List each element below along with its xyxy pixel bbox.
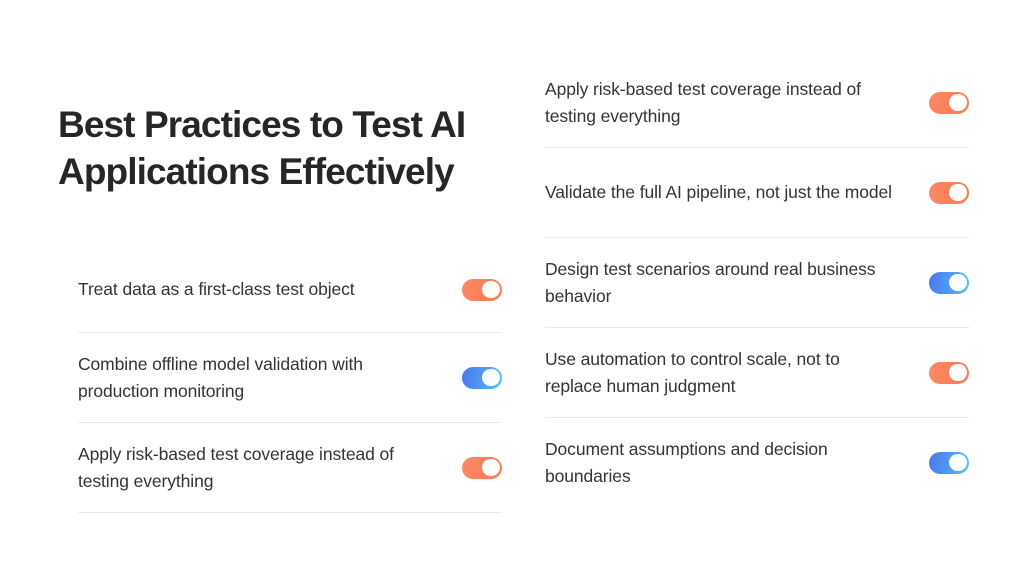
practice-label: Document assumptions and decision bounda… [545,436,907,490]
infographic-canvas: Best Practices to Test AI Applications E… [0,0,1024,580]
list-item[interactable]: Use automation to control scale, not to … [545,328,969,418]
left-practice-list: Treat data as a first-class test object … [78,247,502,513]
practice-label: Treat data as a first-class test object [78,276,365,303]
list-item[interactable]: Combine offline model validation with pr… [78,333,502,423]
page-title-line-2: Applications Effectively [58,148,508,195]
toggle-switch[interactable] [462,457,502,479]
practice-label: Design test scenarios around real busine… [545,256,907,310]
list-item[interactable]: Design test scenarios around real busine… [545,238,969,328]
list-item[interactable]: Validate the full AI pipeline, not just … [545,148,969,238]
toggle-knob-icon [949,94,966,111]
toggle-switch[interactable] [929,452,969,474]
right-column: Apply risk-based test coverage instead o… [545,0,969,580]
practice-label: Combine offline model validation with pr… [78,351,440,405]
toggle-knob-icon [482,281,499,298]
page-title-line-1: Best Practices to Test AI [58,101,508,148]
list-item[interactable]: Apply risk-based test coverage instead o… [78,423,502,513]
toggle-knob-icon [482,369,499,386]
right-practice-list: Apply risk-based test coverage instead o… [545,58,969,508]
toggle-knob-icon [949,364,966,381]
toggle-knob-icon [949,454,966,471]
list-item[interactable]: Document assumptions and decision bounda… [545,418,969,508]
toggle-knob-icon [482,459,499,476]
list-item[interactable]: Apply risk-based test coverage instead o… [545,58,969,148]
practice-label: Apply risk-based test coverage instead o… [78,441,440,495]
practice-label: Use automation to control scale, not to … [545,346,907,400]
list-item[interactable]: Treat data as a first-class test object [78,247,502,333]
left-column: Best Practices to Test AI Applications E… [58,0,504,580]
toggle-switch[interactable] [462,367,502,389]
toggle-switch[interactable] [929,92,969,114]
toggle-switch[interactable] [929,272,969,294]
page-title: Best Practices to Test AI Applications E… [58,101,508,195]
toggle-switch[interactable] [929,362,969,384]
toggle-knob-icon [949,184,966,201]
toggle-switch[interactable] [462,279,502,301]
toggle-switch[interactable] [929,182,969,204]
practice-label: Apply risk-based test coverage instead o… [545,76,907,130]
practice-label: Validate the full AI pipeline, not just … [545,179,902,206]
toggle-knob-icon [949,274,966,291]
